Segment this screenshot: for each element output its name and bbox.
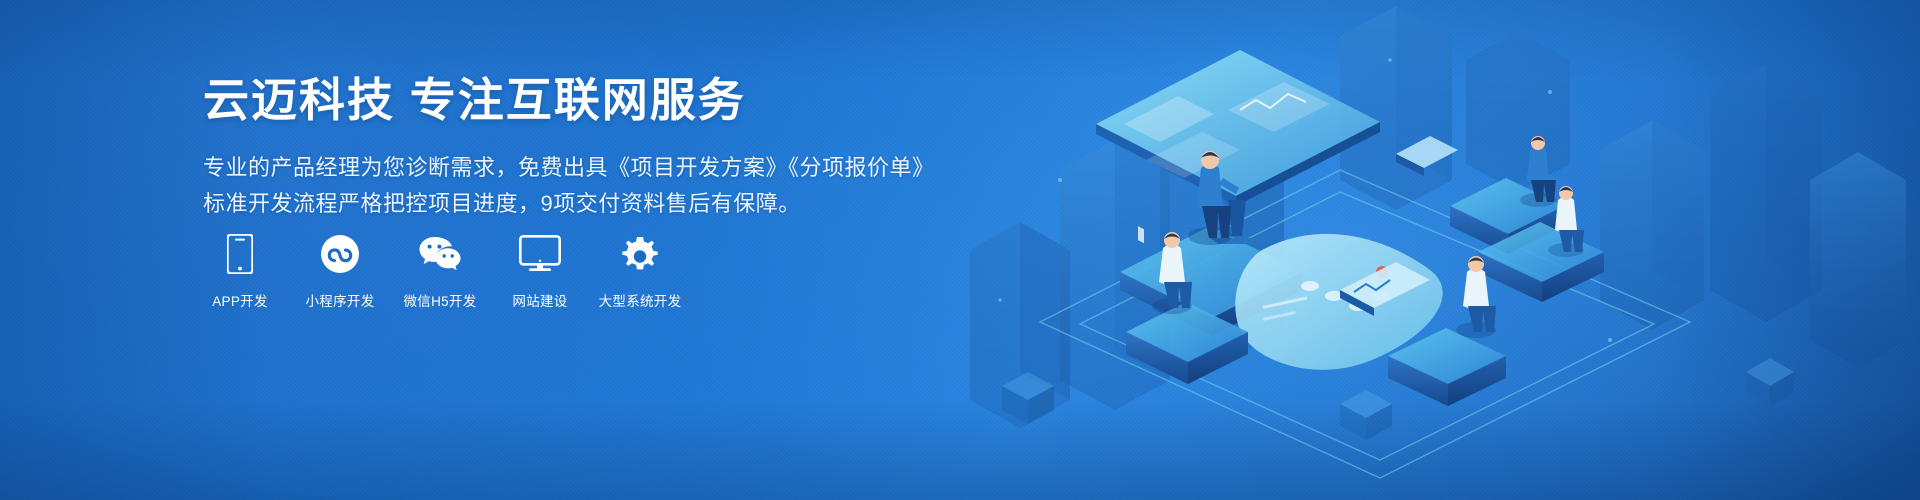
subtitle-line-1: 专业的产品经理为您诊断需求，免费出具《项目开发方案》《分项报价单》 (203, 150, 963, 186)
monitor-icon (519, 232, 561, 276)
service-item-wechat[interactable]: 微信H5开发 (403, 232, 477, 310)
wechat-icon (418, 232, 462, 276)
service-label-website: 网站建设 (512, 290, 567, 310)
gear-icon (620, 232, 660, 276)
service-item-system[interactable]: 大型系统开发 (603, 232, 677, 310)
service-item-mini-program[interactable]: 小程序开发 (303, 232, 377, 310)
hero-subtitle: 专业的产品经理为您诊断需求，免费出具《项目开发方案》《分项报价单》 标准开发流程… (203, 150, 963, 221)
hero-copy: 云迈科技 专注互联网服务 专业的产品经理为您诊断需求，免费出具《项目开发方案》《… (203, 72, 963, 221)
page-title: 云迈科技 专注互联网服务 (203, 72, 963, 128)
isometric-illustration (910, 0, 1920, 500)
subtitle-line-2: 标准开发流程严格把控项目进度，9项交付资料售后有保障。 (203, 186, 963, 222)
hero-banner: 云迈科技 专注互联网服务 专业的产品经理为您诊断需求，免费出具《项目开发方案》《… (0, 0, 1920, 500)
mini-program-icon (320, 232, 360, 276)
service-label-system: 大型系统开发 (599, 290, 682, 310)
service-list: APP开发 小程序开发 微信 (203, 232, 677, 310)
mobile-phone-icon (227, 232, 253, 276)
service-label-wechat: 微信H5开发 (403, 290, 476, 310)
service-label-app: APP开发 (212, 290, 268, 310)
service-label-mini-program: 小程序开发 (306, 290, 375, 310)
service-item-website[interactable]: 网站建设 (503, 232, 577, 310)
service-item-app[interactable]: APP开发 (203, 232, 277, 310)
